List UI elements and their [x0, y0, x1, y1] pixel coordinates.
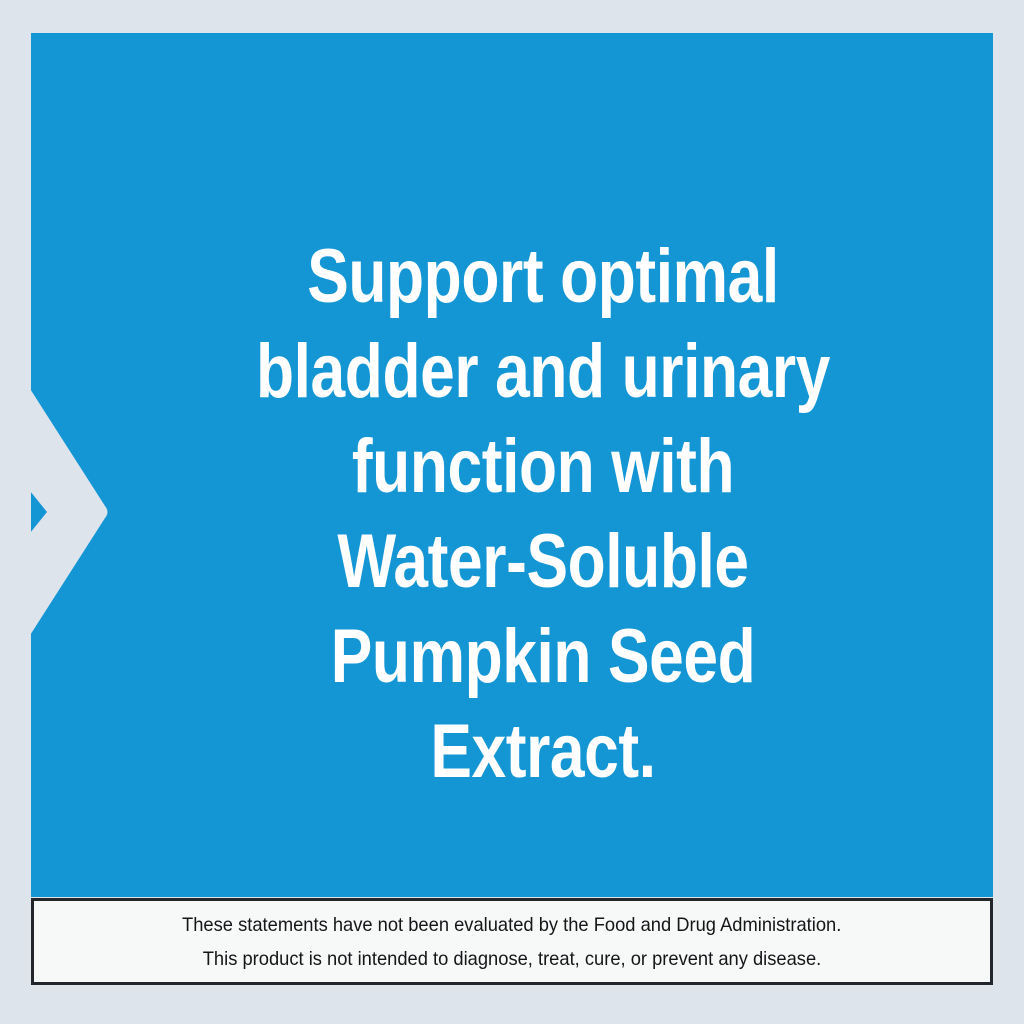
headline-line-3: function with: [149, 419, 938, 514]
disclaimer-line-1: These statements have not been evaluated…: [182, 908, 841, 942]
headline: Support optimal bladder and urinary func…: [149, 229, 938, 799]
headline-line-2: bladder and urinary: [149, 324, 938, 419]
disclaimer-box: These statements have not been evaluated…: [31, 898, 993, 985]
hero-panel: Support optimal bladder and urinary func…: [31, 33, 993, 897]
product-benefit-card: Support optimal bladder and urinary func…: [0, 0, 1024, 1024]
headline-line-4: Water-Soluble: [149, 514, 938, 609]
headline-line-1: Support optimal: [149, 229, 938, 324]
headline-line-5: Pumpkin Seed: [149, 609, 938, 704]
disclaimer-line-2: This product is not intended to diagnose…: [203, 942, 822, 976]
headline-line-6: Extract.: [149, 704, 938, 799]
